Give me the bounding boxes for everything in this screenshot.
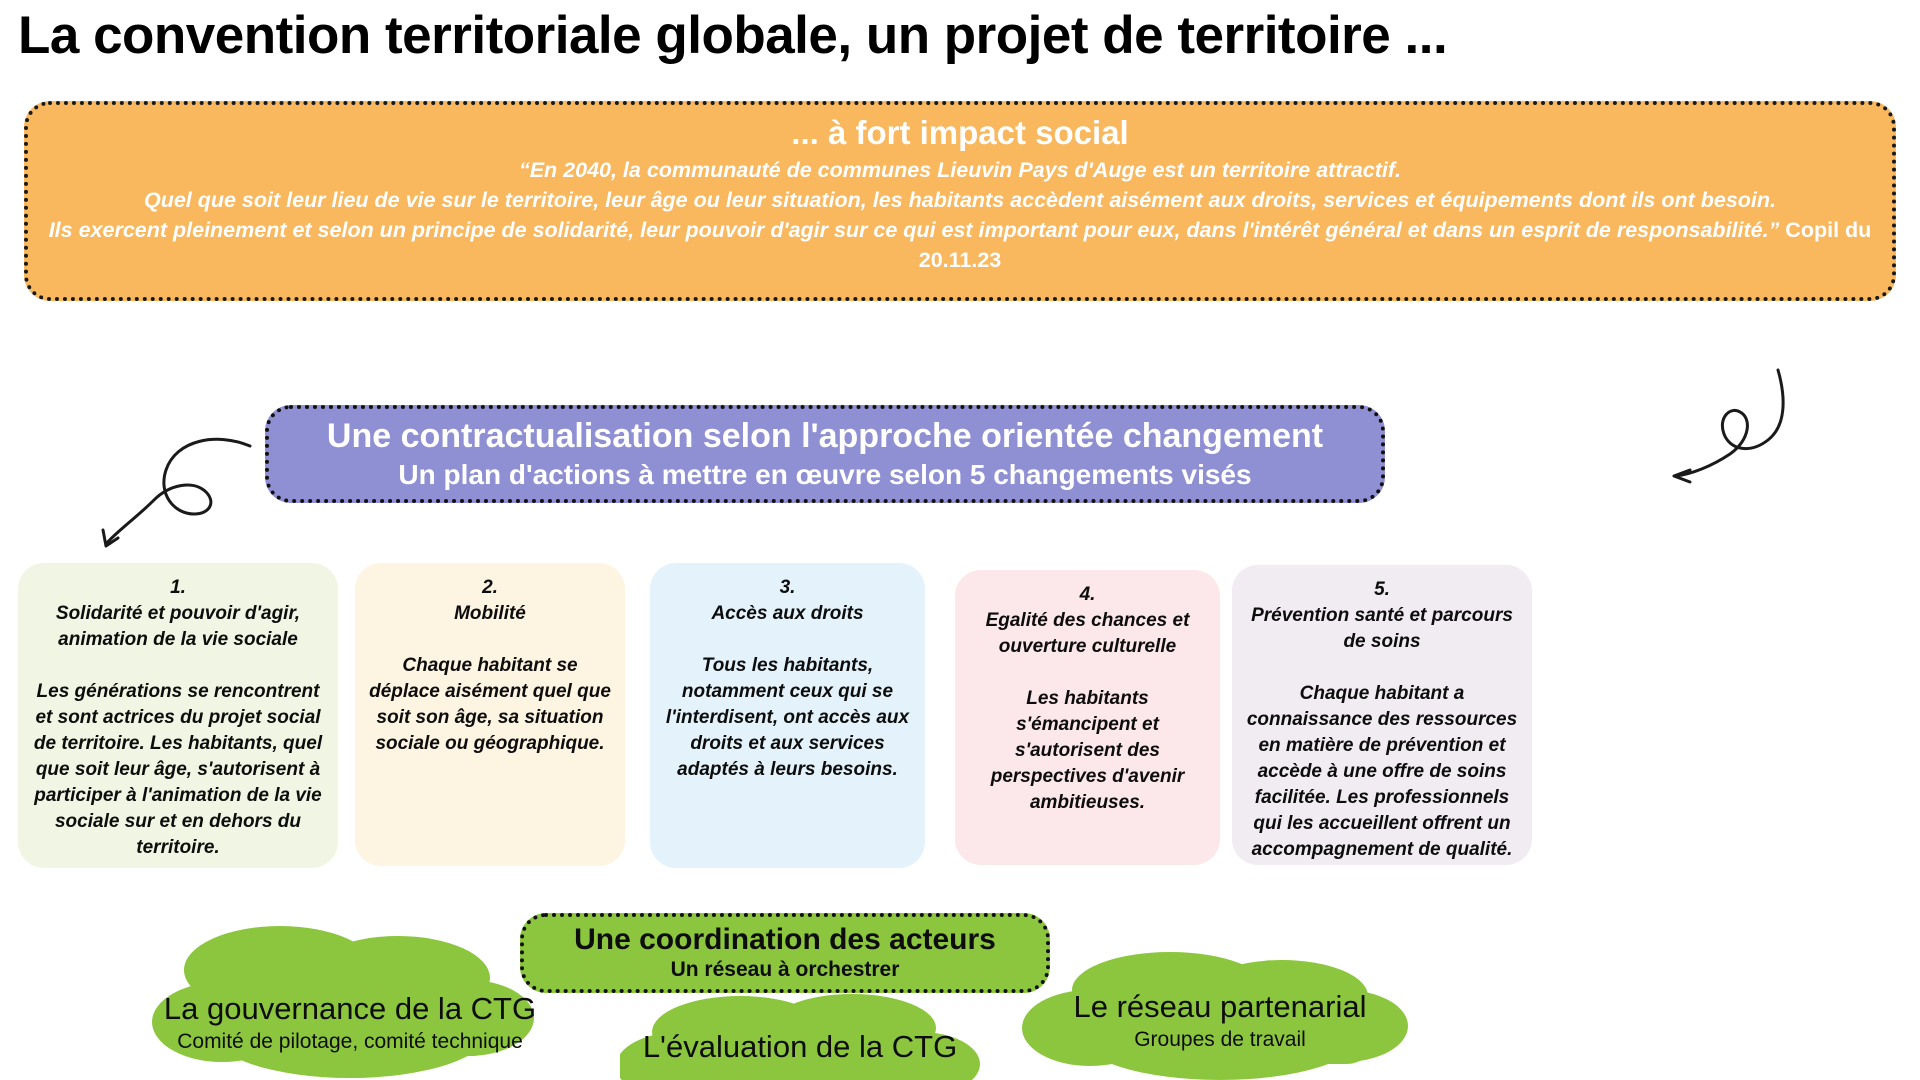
cloud-reseau-subtitle: Groupes de travail	[1020, 1026, 1420, 1054]
cloud-gouvernance: La gouvernance de la CTG Comité de pilot…	[150, 918, 550, 1080]
coordination-subtitle: Un réseau à orchestrer	[524, 957, 1046, 983]
change-card-2-body: Chaque habitant se déplace aisément quel…	[369, 653, 611, 757]
change-card-3-number: 3.	[664, 575, 911, 601]
vision-quote: “En 2040, la communauté de communes Lieu…	[34, 155, 1886, 275]
cloud-evaluation: L'évaluation de la CTG	[620, 988, 980, 1080]
change-card-2: 2. Mobilité Chaque habitant se déplace a…	[355, 563, 625, 866]
change-card-2-number: 2.	[369, 575, 611, 601]
curly-arrow-down-left-mirrored-icon	[1668, 368, 1833, 503]
vision-heading: ... à fort impact social	[34, 113, 1886, 153]
change-card-5-number: 5.	[1246, 577, 1518, 603]
change-card-3: 3. Accès aux droits Tous les habitants, …	[650, 563, 925, 868]
change-card-4-number: 4.	[969, 582, 1206, 608]
contract-subtitle: Un plan d'actions à mettre en œuvre selo…	[269, 458, 1381, 492]
cloud-reseau-text: Le réseau partenarial Groupes de travail	[1020, 988, 1420, 1054]
cloud-gouvernance-subtitle: Comité de pilotage, comité technique	[150, 1028, 550, 1056]
change-card-1-number: 1.	[32, 575, 324, 601]
change-card-4: 4. Egalité des chances et ouverture cult…	[955, 570, 1220, 865]
cloud-gouvernance-title: La gouvernance de la CTG	[150, 990, 550, 1028]
change-card-4-body: Les habitants s'émancipent et s'autorise…	[969, 686, 1206, 816]
contract-title: Une contractualisation selon l'approche …	[269, 416, 1381, 456]
cloud-gouvernance-text: La gouvernance de la CTG Comité de pilot…	[150, 990, 550, 1056]
cloud-evaluation-text: L'évaluation de la CTG	[620, 1028, 980, 1066]
slide-canvas: La convention territoriale globale, un p…	[0, 0, 1920, 1080]
change-card-1: 1. Solidarité et pouvoir d'agir, animati…	[18, 563, 338, 868]
change-card-4-heading: Egalité des chances et ouverture culture…	[969, 608, 1206, 660]
change-card-5-body: Chaque habitant a connaissance des resso…	[1246, 681, 1518, 863]
cloud-reseau-title: Le réseau partenarial	[1020, 988, 1420, 1026]
coordination-banner: Une coordination des acteurs Un réseau à…	[520, 913, 1050, 993]
change-card-1-body: Les générations se rencontrent et sont a…	[32, 679, 324, 861]
curly-arrow-down-left-icon	[98, 418, 258, 553]
change-card-5-heading: Prévention santé et parcours de soins	[1246, 603, 1518, 655]
contract-banner: Une contractualisation selon l'approche …	[265, 405, 1385, 503]
cloud-evaluation-title: L'évaluation de la CTG	[620, 1028, 980, 1066]
page-title: La convention territoriale globale, un p…	[18, 4, 1908, 68]
change-card-2-heading: Mobilité	[369, 601, 611, 627]
vision-quote-line-3: Ils exercent pleinement et selon un prin…	[49, 218, 1780, 242]
change-card-3-body: Tous les habitants, notamment ceux qui s…	[664, 653, 911, 783]
coordination-title: Une coordination des acteurs	[524, 923, 1046, 957]
change-card-1-heading: Solidarité et pouvoir d'agir, animation …	[32, 601, 324, 653]
change-card-3-heading: Accès aux droits	[664, 601, 911, 627]
vision-quote-line-1: “En 2040, la communauté de communes Lieu…	[519, 158, 1401, 182]
vision-quote-line-2: Quel que soit leur lieu de vie sur le te…	[144, 188, 1776, 212]
vision-banner: ... à fort impact social “En 2040, la co…	[24, 101, 1896, 301]
change-card-5: 5. Prévention santé et parcours de soins…	[1232, 565, 1532, 865]
cloud-reseau-partenarial: Le réseau partenarial Groupes de travail	[1020, 950, 1420, 1080]
